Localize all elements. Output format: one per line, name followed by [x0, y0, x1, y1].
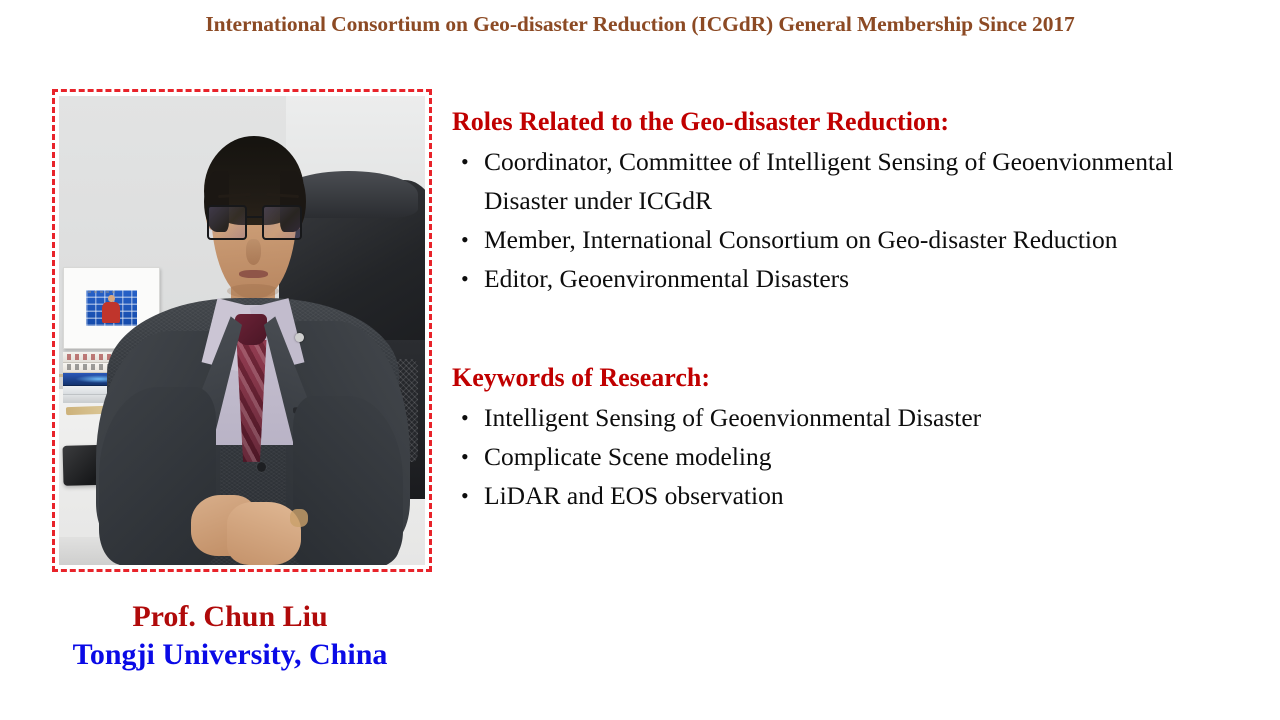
person-wristwatch: [290, 509, 308, 528]
person-lapel-pin: [295, 333, 304, 342]
list-item: Editor, Geoenvironmental Disasters: [452, 259, 1242, 298]
section-spacer: [452, 298, 1242, 362]
person-name: Prof. Chun Liu: [0, 598, 460, 636]
portrait-photo: [59, 96, 425, 565]
page-title: International Consortium on Geo-disaster…: [0, 12, 1280, 37]
section-roles-list: Coordinator, Committee of Intelligent Se…: [452, 142, 1242, 298]
person-chin-shadow: [227, 284, 278, 298]
section-roles: Roles Related to the Geo-disaster Reduct…: [452, 106, 1242, 298]
person-arm-right: [293, 396, 403, 565]
section-keywords-heading: Keywords of Research:: [452, 362, 1242, 394]
framed-picture-caption: [88, 291, 119, 293]
section-keywords: Keywords of Research: Intelligent Sensin…: [452, 362, 1242, 515]
framed-picture-person-body: [102, 302, 119, 323]
person-caption-block: Prof. Chun Liu Tongji University, China: [0, 598, 460, 674]
person-affiliation: Tongji University, China: [0, 636, 460, 674]
eyeglasses-bridge: [247, 216, 262, 218]
eyeglasses-lens-left: [207, 205, 247, 240]
list-item: Intelligent Sensing of Geoenvionmental D…: [452, 398, 1242, 437]
content-column: Roles Related to the Geo-disaster Reduct…: [452, 106, 1242, 515]
eyeglasses-lens-right: [262, 205, 302, 240]
framed-picture-image: [86, 290, 137, 326]
list-item: Member, International Consortium on Geo-…: [452, 220, 1242, 259]
section-roles-heading: Roles Related to the Geo-disaster Reduct…: [452, 106, 1242, 138]
section-keywords-list: Intelligent Sensing of Geoenvionmental D…: [452, 398, 1242, 515]
framed-picture-person-head: [108, 295, 115, 302]
eyeglasses-icon: [207, 205, 302, 240]
list-item: Coordinator, Committee of Intelligent Se…: [452, 142, 1242, 220]
list-item: Complicate Scene modeling: [452, 437, 1242, 476]
person-hand-right: [227, 502, 300, 565]
person-mouth: [239, 270, 268, 278]
person-nose: [246, 239, 261, 265]
person-suit-button: [257, 462, 267, 472]
portrait-photo-frame: [52, 89, 432, 572]
slide-root: International Consortium on Geo-disaster…: [0, 0, 1280, 720]
list-item: LiDAR and EOS observation: [452, 476, 1242, 515]
